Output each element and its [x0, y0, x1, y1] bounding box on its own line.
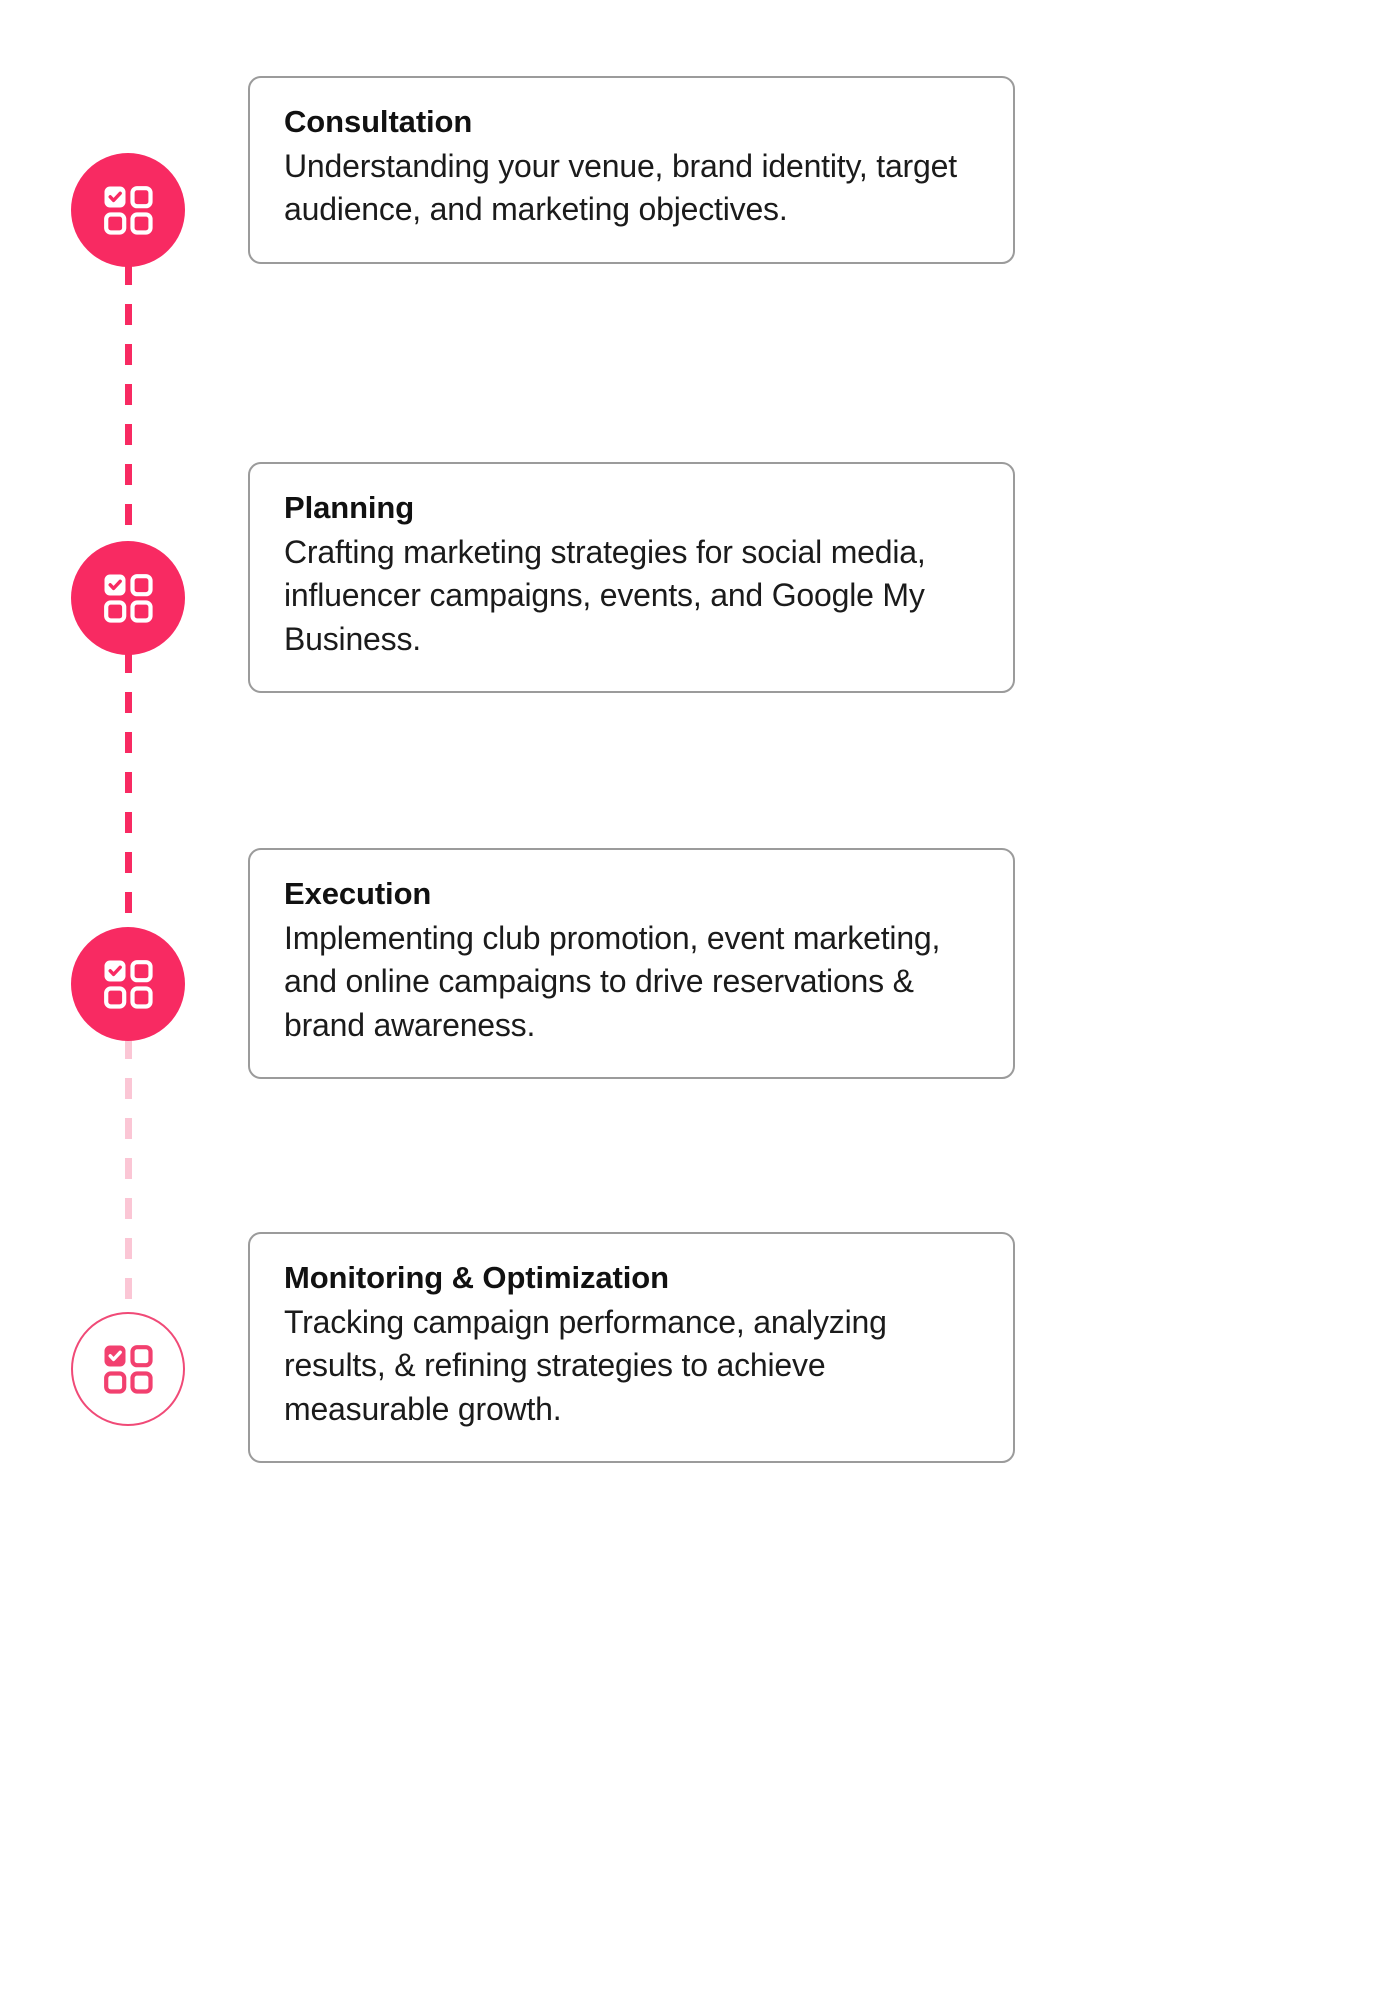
step-description: Crafting marketing strategies for social…	[284, 531, 979, 662]
step-title: Planning	[284, 490, 979, 527]
step-title: Execution	[284, 876, 979, 913]
step-title: Monitoring & Optimization	[284, 1260, 979, 1297]
grid-check-icon	[102, 572, 154, 624]
grid-check-icon	[102, 184, 154, 236]
step-card-4[interactable]: Monitoring & Optimization Tracking campa…	[248, 1232, 1015, 1463]
grid-check-icon	[102, 1343, 154, 1395]
step-marker-4[interactable]	[71, 1312, 185, 1426]
step-description: Implementing club promotion, event marke…	[284, 917, 979, 1048]
dashed-line-icon	[125, 264, 132, 546]
step-card-3[interactable]: Execution Implementing club promotion, e…	[248, 848, 1015, 1079]
step-marker-1[interactable]	[71, 153, 185, 267]
step-card-1[interactable]: Consultation Understanding your venue, b…	[248, 76, 1015, 264]
dashed-line-icon	[125, 652, 132, 932]
process-timeline: Consultation Understanding your venue, b…	[0, 0, 1390, 2000]
step-description: Tracking campaign performance, analyzing…	[284, 1301, 979, 1432]
step-marker-2[interactable]	[71, 541, 185, 655]
step-description: Understanding your venue, brand identity…	[284, 145, 979, 232]
step-title: Consultation	[284, 104, 979, 141]
step-marker-3[interactable]	[71, 927, 185, 1041]
connector-step-3-to-4	[125, 1038, 132, 1318]
connector-step-1-to-2	[125, 264, 132, 546]
step-card-2[interactable]: Planning Crafting marketing strategies f…	[248, 462, 1015, 693]
dashed-line-icon	[125, 1038, 132, 1318]
grid-check-icon	[102, 958, 154, 1010]
connector-step-2-to-3	[125, 652, 132, 932]
